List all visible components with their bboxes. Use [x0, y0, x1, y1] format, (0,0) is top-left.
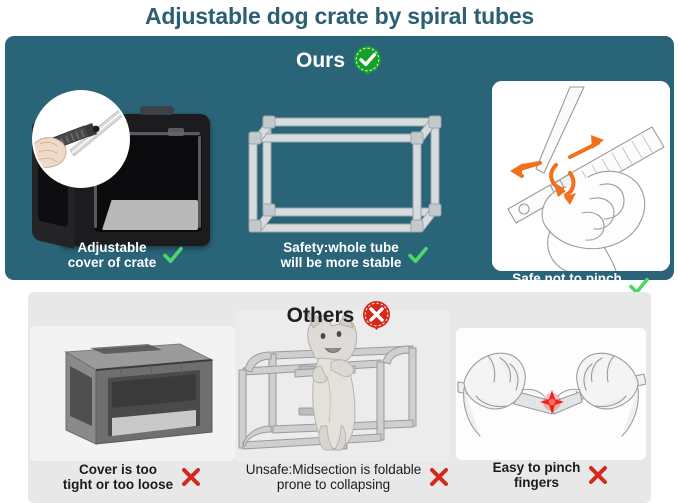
crate-zipper-right	[198, 136, 201, 228]
others-item-3-caption: Easy to pinch fingers	[456, 460, 646, 490]
ours-header: Ours	[5, 45, 674, 76]
gray-loose-cover-crate-photo	[30, 326, 235, 461]
hand-adjusting-spiral-tube-illustration	[492, 81, 670, 271]
green-check-icon	[407, 244, 429, 266]
ours-item-3: Safe not to pinch fingers	[492, 81, 670, 271]
others-panel: Others	[28, 292, 651, 503]
crate-brand-logo	[168, 128, 184, 136]
red-cross-icon	[428, 466, 450, 488]
ours-panel: Ours	[5, 36, 674, 280]
green-check-icon	[162, 244, 184, 266]
others-label: Others	[287, 304, 355, 328]
others-item-2: Unsafe:Midsection is foldable prone to c…	[235, 310, 450, 462]
others-item-3-label: Easy to pinch fingers	[493, 460, 581, 490]
red-cross-badge-icon	[361, 300, 392, 331]
others-item-2-caption: Unsafe:Midsection is foldable prone to c…	[223, 462, 473, 492]
spiral-tube-zoom-inset	[34, 92, 128, 186]
others-item-1-caption: Cover is too tight or too loose	[30, 462, 235, 492]
ours-item-2: Safety:whole tube will be more stable	[245, 76, 465, 271]
black-dog-crate-photo-with-spiral-tube-inset	[32, 92, 232, 260]
ours-label: Ours	[296, 49, 345, 73]
others-header: Others	[28, 300, 651, 331]
others-item-3: Easy to pinch fingers	[456, 328, 646, 460]
ours-item-1-caption: Adjustable cover of crate	[10, 240, 242, 270]
ours-item-1-label: Adjustable cover of crate	[68, 240, 157, 270]
ours-item-1: Adjustable cover of crate	[10, 76, 242, 271]
ours-item-2-label: Safety:whole tube will be more stable	[281, 240, 402, 270]
hands-pinching-tube-injury-illustration	[456, 328, 646, 460]
green-check-badge-icon	[352, 45, 383, 76]
red-cross-icon	[180, 466, 202, 488]
others-item-1: Cover is too tight or too loose	[30, 326, 235, 461]
ours-item-2-caption: Safety:whole tube will be more stable	[245, 240, 465, 270]
others-item-1-label: Cover is too tight or too loose	[63, 462, 173, 492]
crate-top-handle	[140, 106, 174, 115]
dog-leaning-on-collapsing-frame-illustration	[235, 310, 450, 462]
red-cross-icon	[587, 464, 609, 486]
others-item-2-label: Unsafe:Midsection is foldable prone to c…	[246, 462, 422, 492]
page-title: Adjustable dog crate by spiral tubes	[0, 2, 679, 30]
crate-floor-mat	[102, 200, 198, 230]
crate-frame-wireframe-diagram	[247, 102, 463, 247]
